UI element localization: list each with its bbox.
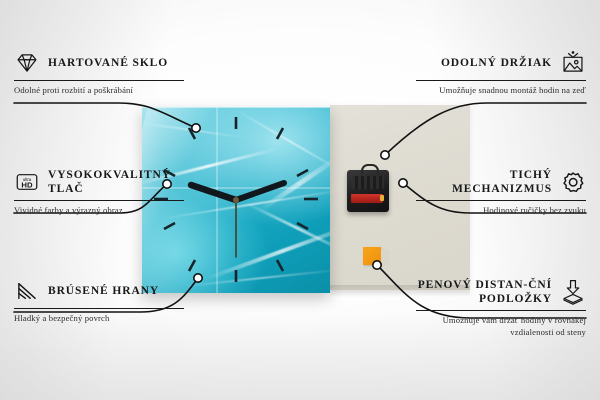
feature-divider <box>14 200 184 201</box>
wire-glass <box>14 103 196 128</box>
diamond-icon <box>14 50 40 76</box>
feature-tempered-glass: HARTOVANÉ SKLO Odolné proti rozbití a po… <box>14 50 184 97</box>
feature-head: ODOLNÝ DRŽIAK <box>416 50 586 76</box>
feature-description: Hladký a bezpečný povrch <box>14 313 184 325</box>
feature-foam-spacers: PENOVÝ DISTAN-ČNÍ PODLOŽKY Umožňuje vám … <box>416 278 586 338</box>
feature-divider <box>14 308 184 309</box>
feature-head: HARTOVANÉ SKLO <box>14 50 184 76</box>
feature-description: Hodinové ručičky bez zvuku <box>416 205 586 217</box>
node-spacer[interactable] <box>373 261 381 269</box>
feature-head: PENOVÝ DISTAN-ČNÍ PODLOŽKY <box>416 278 586 306</box>
node-mechanism[interactable] <box>399 179 407 187</box>
picture-hanger-icon <box>560 50 586 76</box>
feature-divider <box>416 80 586 81</box>
feature-title: ODOLNÝ DRŽIAK <box>441 56 552 70</box>
feature-description: Umožňuje snadnou montáž hodin na zeď <box>416 85 586 97</box>
feature-title: TICHÝ MECHANIZMUS <box>416 168 552 196</box>
feature-title: VYSOKOKVALITNÝ TLAČ <box>48 168 184 196</box>
node-holder[interactable] <box>381 151 389 159</box>
wire-holder <box>385 103 586 155</box>
feature-high-quality-print: ultra HD VYSOKOKVALITNÝ TLAČ Vividné far… <box>14 168 184 217</box>
feature-title: BRÚSENÉ HRANY <box>48 284 159 298</box>
node-glass[interactable] <box>192 124 200 132</box>
node-edges[interactable] <box>194 274 202 282</box>
feature-durable-holder: ODOLNÝ DRŽIAK Umožňuje snadnou montáž ho… <box>416 50 586 97</box>
feature-bevelled-edges: BRÚSENÉ HRANY Hladký a bezpečný povrch <box>14 278 184 325</box>
feature-divider <box>14 80 184 81</box>
feature-description: Odolné proti rozbití a poškrábání <box>14 85 184 97</box>
feature-title: PENOVÝ DISTAN-ČNÍ PODLOŽKY <box>416 278 552 306</box>
feature-head: BRÚSENÉ HRANY <box>14 278 184 304</box>
feature-description: Umožňuje vám držať hodiny v rovnakej vzd… <box>416 315 586 338</box>
feature-head: ultra HD VYSOKOKVALITNÝ TLAČ <box>14 168 184 196</box>
feature-description: Vividné farby a výrazný obraz <box>14 205 184 217</box>
feature-silent-mechanism: TICHÝ MECHANIZMUS Hodinové ručičky bez z… <box>416 168 586 217</box>
infographic-canvas: HARTOVANÉ SKLO Odolné proti rozbití a po… <box>0 0 600 400</box>
gear-icon <box>560 169 586 195</box>
bevelled-edges-icon <box>14 278 40 304</box>
feature-title: HARTOVANÉ SKLO <box>48 56 168 70</box>
hd-label: HD <box>21 181 33 190</box>
feature-divider <box>416 200 586 201</box>
ultra-hd-icon: ultra HD <box>14 169 40 195</box>
feature-divider <box>416 310 586 311</box>
foam-spacer-icon <box>560 279 586 305</box>
feature-head: TICHÝ MECHANIZMUS <box>416 168 586 196</box>
